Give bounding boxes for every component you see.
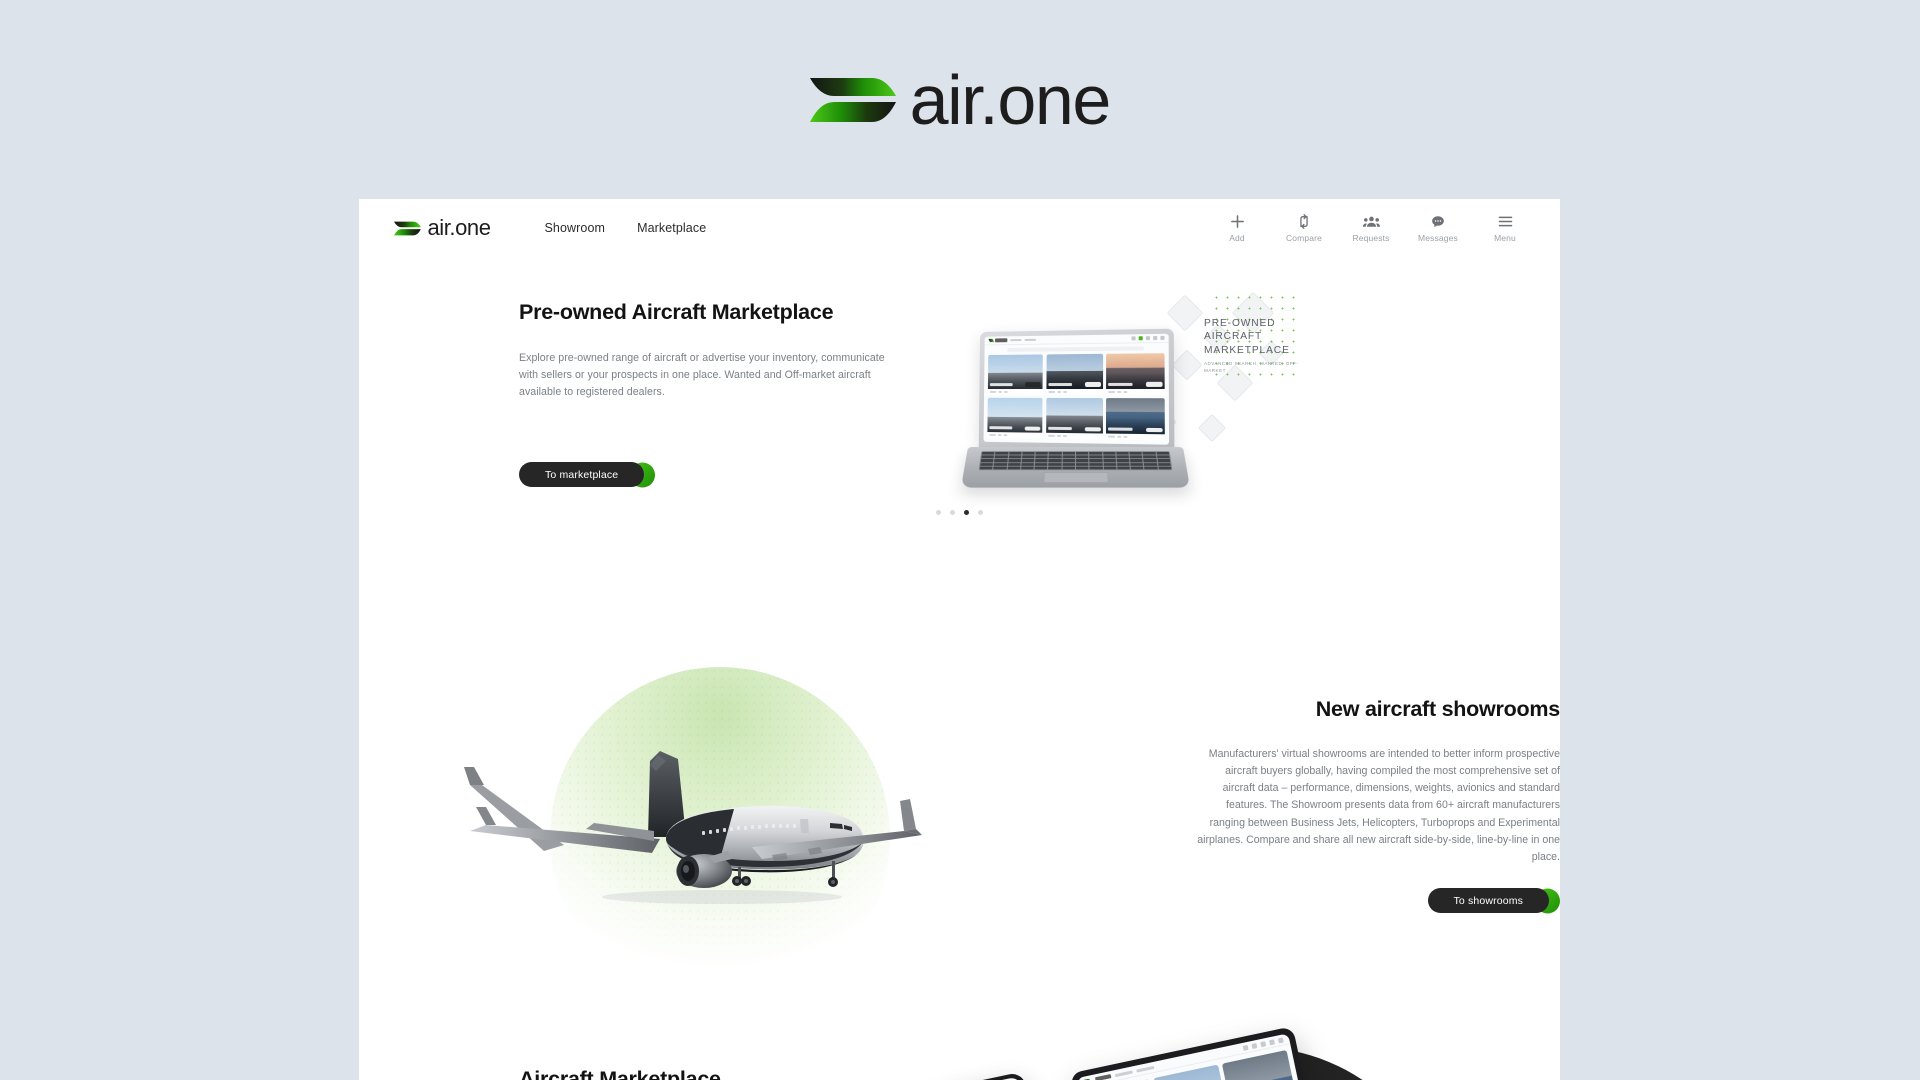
- hero-overlay-subtitle: ADVANCED SEARCH, WANTED, OFF-MARKET: [1204, 361, 1300, 374]
- tablet-mockup: [1070, 1026, 1329, 1080]
- airone-wing-logo-icon: [810, 74, 906, 126]
- site-navigation: air.one Showroom Marketplace Add: [359, 199, 1560, 257]
- hero-carousel-dots: [359, 510, 1560, 515]
- mockup-listing-card: [987, 398, 1042, 439]
- hero-title: Pre-owned Aircraft Marketplace: [519, 299, 887, 326]
- carousel-dot-1[interactable]: [936, 510, 941, 515]
- laptop-keyboard: [979, 451, 1173, 470]
- nav-tool-add-label: Add: [1229, 233, 1245, 243]
- airone-wing-logo-icon: [988, 339, 994, 342]
- hero-artwork: PRE-OWNED AIRCRAFT MARKETPLACE ADVANCED …: [976, 292, 1301, 482]
- mockup-listing-card: [1106, 398, 1165, 440]
- laptop-base: [961, 447, 1190, 488]
- mockup-listing-card: [1106, 353, 1165, 395]
- tablet-screen: [1077, 1033, 1322, 1080]
- laptop-lid: [979, 329, 1175, 451]
- nav-tool-compare-label: Compare: [1286, 233, 1322, 243]
- showrooms-cta-wrap: To showrooms: [1428, 888, 1550, 913]
- speech-bubble-icon: [1431, 214, 1445, 230]
- hero-cta-wrap: To marketplace: [519, 462, 644, 487]
- brand-header: air.one: [0, 0, 1920, 199]
- laptop-mockup: [976, 330, 1181, 493]
- mockup-listing-grid: [984, 353, 1170, 445]
- airone-logo[interactable]: air.one: [810, 65, 1110, 135]
- nav-logo[interactable]: air.one: [394, 217, 491, 239]
- showrooms-body-text: Manufacturers' virtual showrooms are int…: [1190, 746, 1560, 866]
- phone-mockup-nav: [938, 1076, 1023, 1080]
- compare-arrows-icon: [1297, 214, 1311, 230]
- hero-body-text: Explore pre-owned range of aircraft or a…: [519, 350, 887, 401]
- hero-overlay-text: PRE-OWNED AIRCRAFT MARKETPLACE ADVANCED …: [1204, 317, 1300, 375]
- to-showrooms-button[interactable]: To showrooms: [1428, 888, 1550, 913]
- showrooms-section: New aircraft showrooms Manufacturers' vi…: [359, 667, 1560, 923]
- laptop-screen: [984, 334, 1170, 445]
- nav-tool-add[interactable]: Add: [1216, 214, 1258, 243]
- showrooms-copy: New aircraft showrooms Manufacturers' vi…: [1190, 697, 1560, 913]
- nav-links: Showroom Marketplace: [545, 221, 707, 235]
- nav-tool-requests[interactable]: Requests: [1350, 214, 1392, 243]
- laptop-touchpad: [1043, 472, 1109, 483]
- airone-wing-logo-icon: [394, 220, 424, 237]
- mockup-listing-card: [988, 354, 1043, 394]
- airliner-artwork: [452, 667, 942, 907]
- nav-tool-messages-label: Messages: [1418, 233, 1458, 243]
- mockup-nav: [985, 334, 1169, 346]
- mockup-listing-card: [1046, 398, 1103, 439]
- nav-tool-messages[interactable]: Messages: [1417, 214, 1459, 243]
- marketplace-section: Aircraft Marketplace: [359, 1019, 1560, 1080]
- carousel-dot-3[interactable]: [964, 510, 969, 515]
- plus-icon: [1230, 214, 1245, 230]
- marketplace-title: Aircraft Marketplace: [519, 1067, 721, 1080]
- to-marketplace-button[interactable]: To marketplace: [519, 462, 644, 487]
- page-content-card: air.one Showroom Marketplace Add: [359, 199, 1560, 1080]
- commercial-jet-illustration: [452, 719, 942, 909]
- nav-link-showroom[interactable]: Showroom: [545, 221, 606, 235]
- hero-overlay-title: PRE-OWNED AIRCRAFT MARKETPLACE: [1204, 317, 1300, 357]
- nav-tool-menu[interactable]: Menu: [1484, 214, 1526, 243]
- showrooms-title: New aircraft showrooms: [1190, 697, 1560, 722]
- devices-artwork: [899, 1019, 1459, 1080]
- nav-tool-menu-label: Menu: [1494, 233, 1516, 243]
- phone-mockup: [933, 1071, 1061, 1080]
- airone-wordmark: air.one: [910, 65, 1110, 135]
- hero-section: Pre-owned Aircraft Marketplace Explore p…: [359, 257, 1560, 547]
- mockup-logo: [988, 339, 1007, 342]
- mockup-search-bar: [1007, 346, 1144, 352]
- carousel-dot-4[interactable]: [978, 510, 983, 515]
- nav-link-marketplace[interactable]: Marketplace: [637, 221, 706, 235]
- nav-tool-requests-label: Requests: [1352, 233, 1389, 243]
- nav-tool-compare[interactable]: Compare: [1283, 214, 1325, 243]
- people-group-icon: [1363, 214, 1380, 230]
- hamburger-menu-icon: [1498, 214, 1513, 230]
- hero-copy: Pre-owned Aircraft Marketplace Explore p…: [519, 299, 887, 401]
- nav-tools: Add Compare: [1216, 214, 1526, 243]
- showrooms-cta: To showrooms: [1190, 888, 1560, 913]
- phone-screen: [938, 1076, 1057, 1080]
- mockup-listing-card: [1046, 354, 1103, 395]
- carousel-dot-2[interactable]: [950, 510, 955, 515]
- nav-logo-label: air.one: [428, 217, 491, 239]
